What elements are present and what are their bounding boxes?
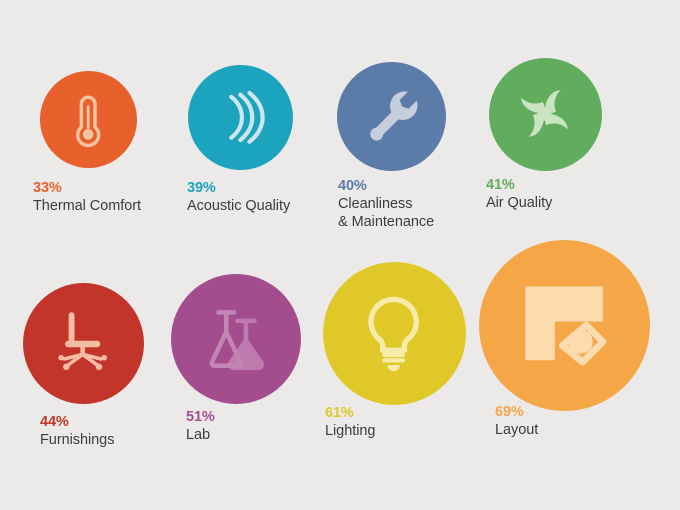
metric-label-line: Thermal Comfort <box>33 197 141 215</box>
metric-caption-lab: 51%Lab <box>186 409 215 444</box>
metric-label-cleanliness-maintenance: Cleanliness& Maintenance <box>338 195 434 231</box>
office-chair-icon <box>50 310 115 375</box>
metric-circle-acoustic-quality[interactable] <box>188 65 293 170</box>
metric-label-layout: Layout <box>495 421 538 439</box>
metric-circle-layout[interactable] <box>479 240 650 411</box>
metric-label-furnishings: Furnishings <box>40 431 114 449</box>
metric-circle-cleanliness-maintenance[interactable] <box>337 62 446 171</box>
metric-circle-thermal-comfort[interactable] <box>40 71 137 168</box>
metric-caption-air-quality: 41%Air Quality <box>486 177 552 212</box>
metric-label-acoustic-quality: Acoustic Quality <box>187 197 290 215</box>
metric-percent-thermal-comfort: 33% <box>33 180 141 197</box>
metric-label-line: Lighting <box>325 422 375 440</box>
metric-caption-lighting: 61%Lighting <box>325 405 375 440</box>
metric-percent-furnishings: 44% <box>40 414 114 431</box>
metric-label-line: Layout <box>495 421 538 439</box>
metric-caption-layout: 69%Layout <box>495 404 538 439</box>
metric-caption-cleanliness-maintenance: 40%Cleanliness& Maintenance <box>338 178 434 231</box>
metric-caption-furnishings: 44%Furnishings <box>40 414 114 449</box>
metric-label-line: Acoustic Quality <box>187 197 290 215</box>
light-bulb-icon <box>355 294 432 371</box>
metric-label-lighting: Lighting <box>325 422 375 440</box>
metric-label-line: Cleanliness <box>338 195 434 213</box>
metric-caption-acoustic-quality: 39%Acoustic Quality <box>187 180 290 215</box>
metric-label-line: Air Quality <box>486 194 552 212</box>
metric-label-air-quality: Air Quality <box>486 194 552 212</box>
flasks-icon <box>201 304 271 374</box>
metric-circle-lab[interactable] <box>171 274 301 404</box>
metric-caption-thermal-comfort: 33%Thermal Comfort <box>33 180 141 215</box>
metric-label-lab: Lab <box>186 426 215 444</box>
metric-percent-lab: 51% <box>186 409 215 426</box>
metric-label-line: Furnishings <box>40 431 114 449</box>
metric-circle-furnishings[interactable] <box>23 283 144 404</box>
fan-swirl-icon <box>514 83 575 144</box>
infographic-board: 33%Thermal Comfort39%Acoustic Quality40%… <box>0 0 680 510</box>
metric-circle-lighting[interactable] <box>323 262 466 405</box>
metric-label-line: & Maintenance <box>338 213 434 231</box>
metric-label-thermal-comfort: Thermal Comfort <box>33 197 141 215</box>
wrench-icon <box>362 87 421 146</box>
desk-layout-icon <box>518 279 610 371</box>
metric-percent-layout: 69% <box>495 404 538 421</box>
thermometer-icon <box>62 93 114 145</box>
metric-percent-air-quality: 41% <box>486 177 552 194</box>
metric-percent-acoustic-quality: 39% <box>187 180 290 197</box>
metric-percent-cleanliness-maintenance: 40% <box>338 178 434 195</box>
metric-label-line: Lab <box>186 426 215 444</box>
metric-percent-lighting: 61% <box>325 405 375 422</box>
metric-circle-air-quality[interactable] <box>489 58 602 171</box>
sound-wave-icon <box>212 89 269 146</box>
